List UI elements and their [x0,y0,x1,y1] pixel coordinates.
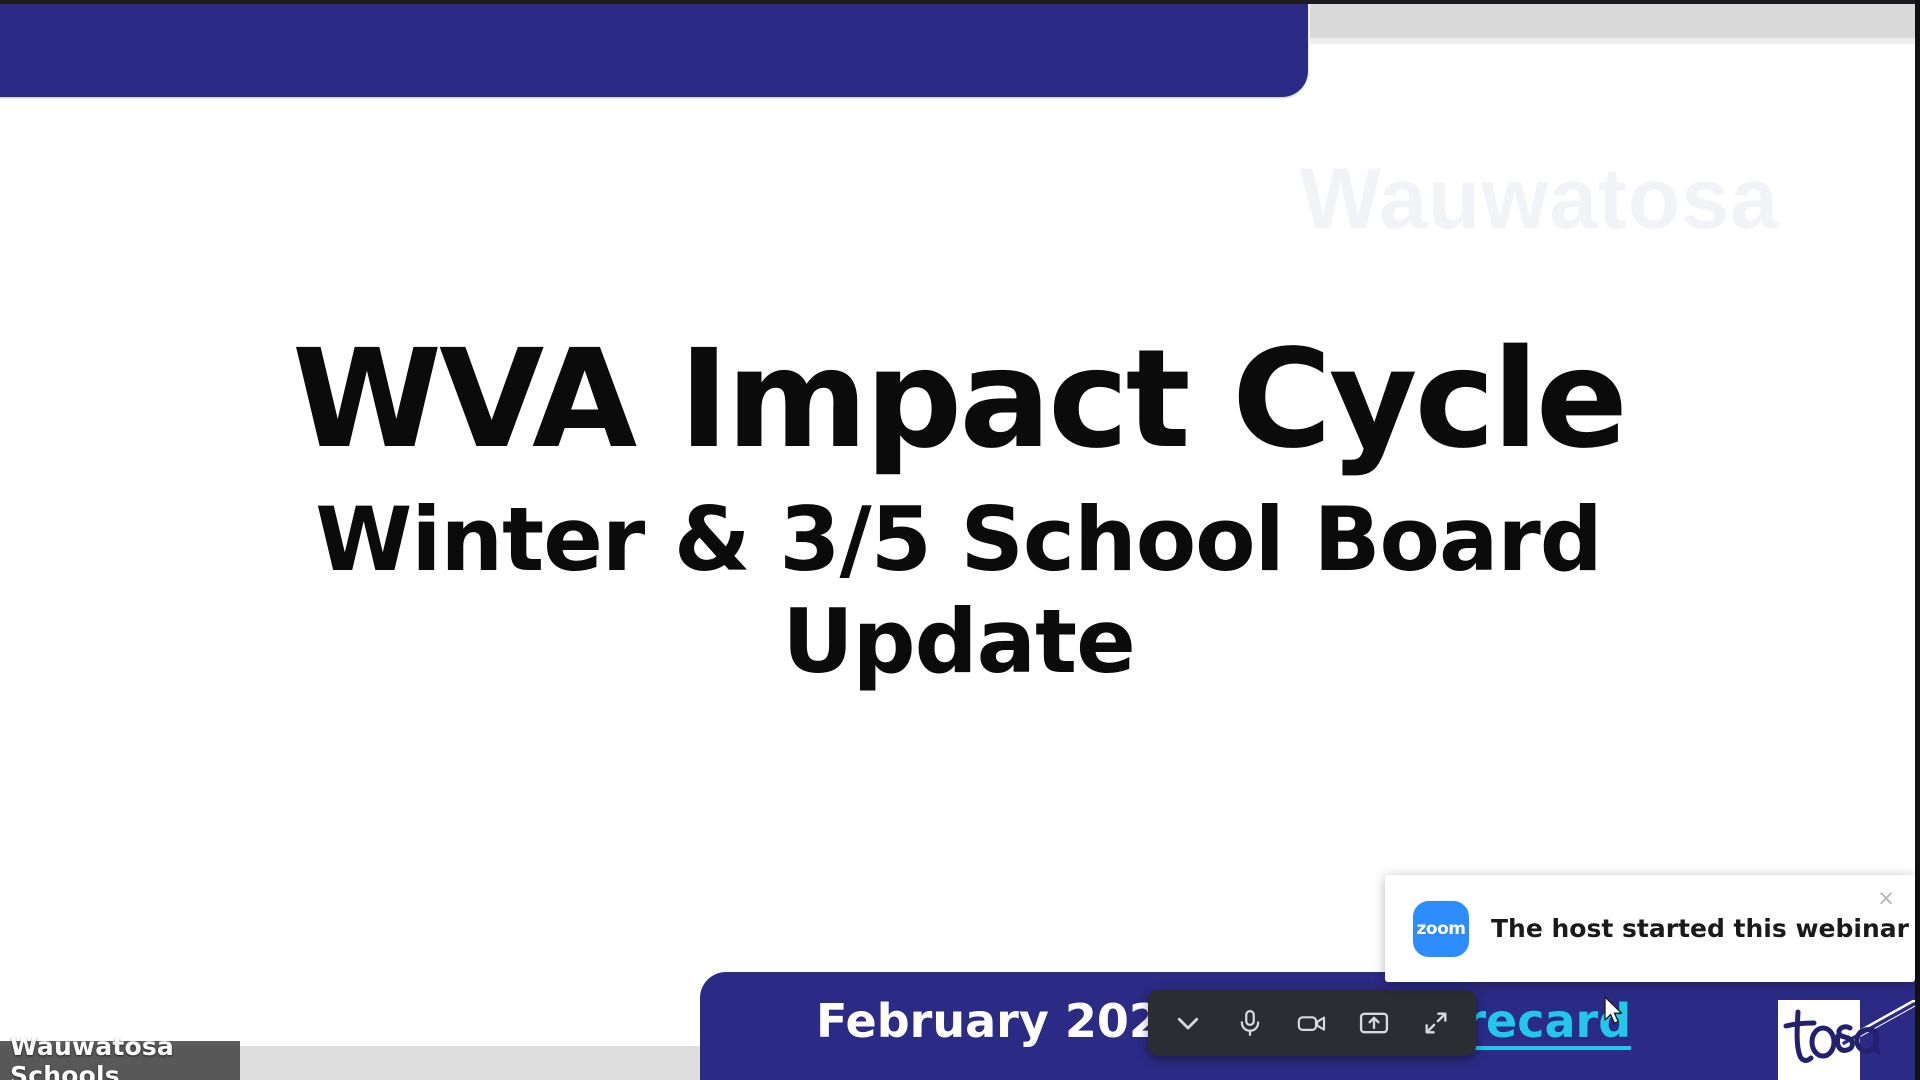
chevron-down-button[interactable] [1162,998,1214,1048]
shared-app-top-strip [1310,4,1915,38]
window-frame-right [1915,0,1920,1080]
slide-ghost-watermark: Wauwatosa [1300,150,1917,280]
tosa-logo [1778,1000,1860,1080]
zoom-webinar-screen: Wauwatosa WVA Impact Cycle Winter & 3/5 … [0,0,1920,1080]
participant-name-badge: Wauwatosa Schools [0,1041,240,1080]
zoom-logo-text: zoom [1417,919,1466,939]
slide-title: WVA Impact Cycle [0,330,1917,471]
microphone-icon [1235,1008,1265,1038]
share-screen-icon [1358,1008,1390,1038]
toast-notification: zoom The host started this webinar × [1385,875,1915,982]
fullscreen-expand-icon [1422,1009,1450,1037]
share-screen-button[interactable] [1348,998,1400,1048]
close-icon[interactable]: × [1873,885,1899,911]
toast-message: The host started this webinar [1491,914,1909,943]
slide-subtitle: Winter & 3/5 School Board Update [299,489,1619,691]
tosa-logo-mark [1778,1000,1917,1080]
zoom-logo-icon: zoom [1413,901,1469,957]
window-frame-top [0,0,1920,4]
slide-title-block: WVA Impact Cycle Winter & 3/5 School Boa… [0,330,1917,692]
chevron-down-icon [1173,1008,1203,1038]
zoom-control-toolbar[interactable] [1148,990,1476,1056]
participant-name-label: Wauwatosa Schools [10,1032,240,1080]
video-camera-button[interactable] [1286,998,1338,1048]
slide-top-banner [0,0,1308,97]
video-camera-icon [1296,1008,1328,1038]
slide-footer-date: February 2025 [816,994,1193,1048]
microphone-button[interactable] [1224,998,1276,1048]
fullscreen-expand-button[interactable] [1410,998,1462,1048]
